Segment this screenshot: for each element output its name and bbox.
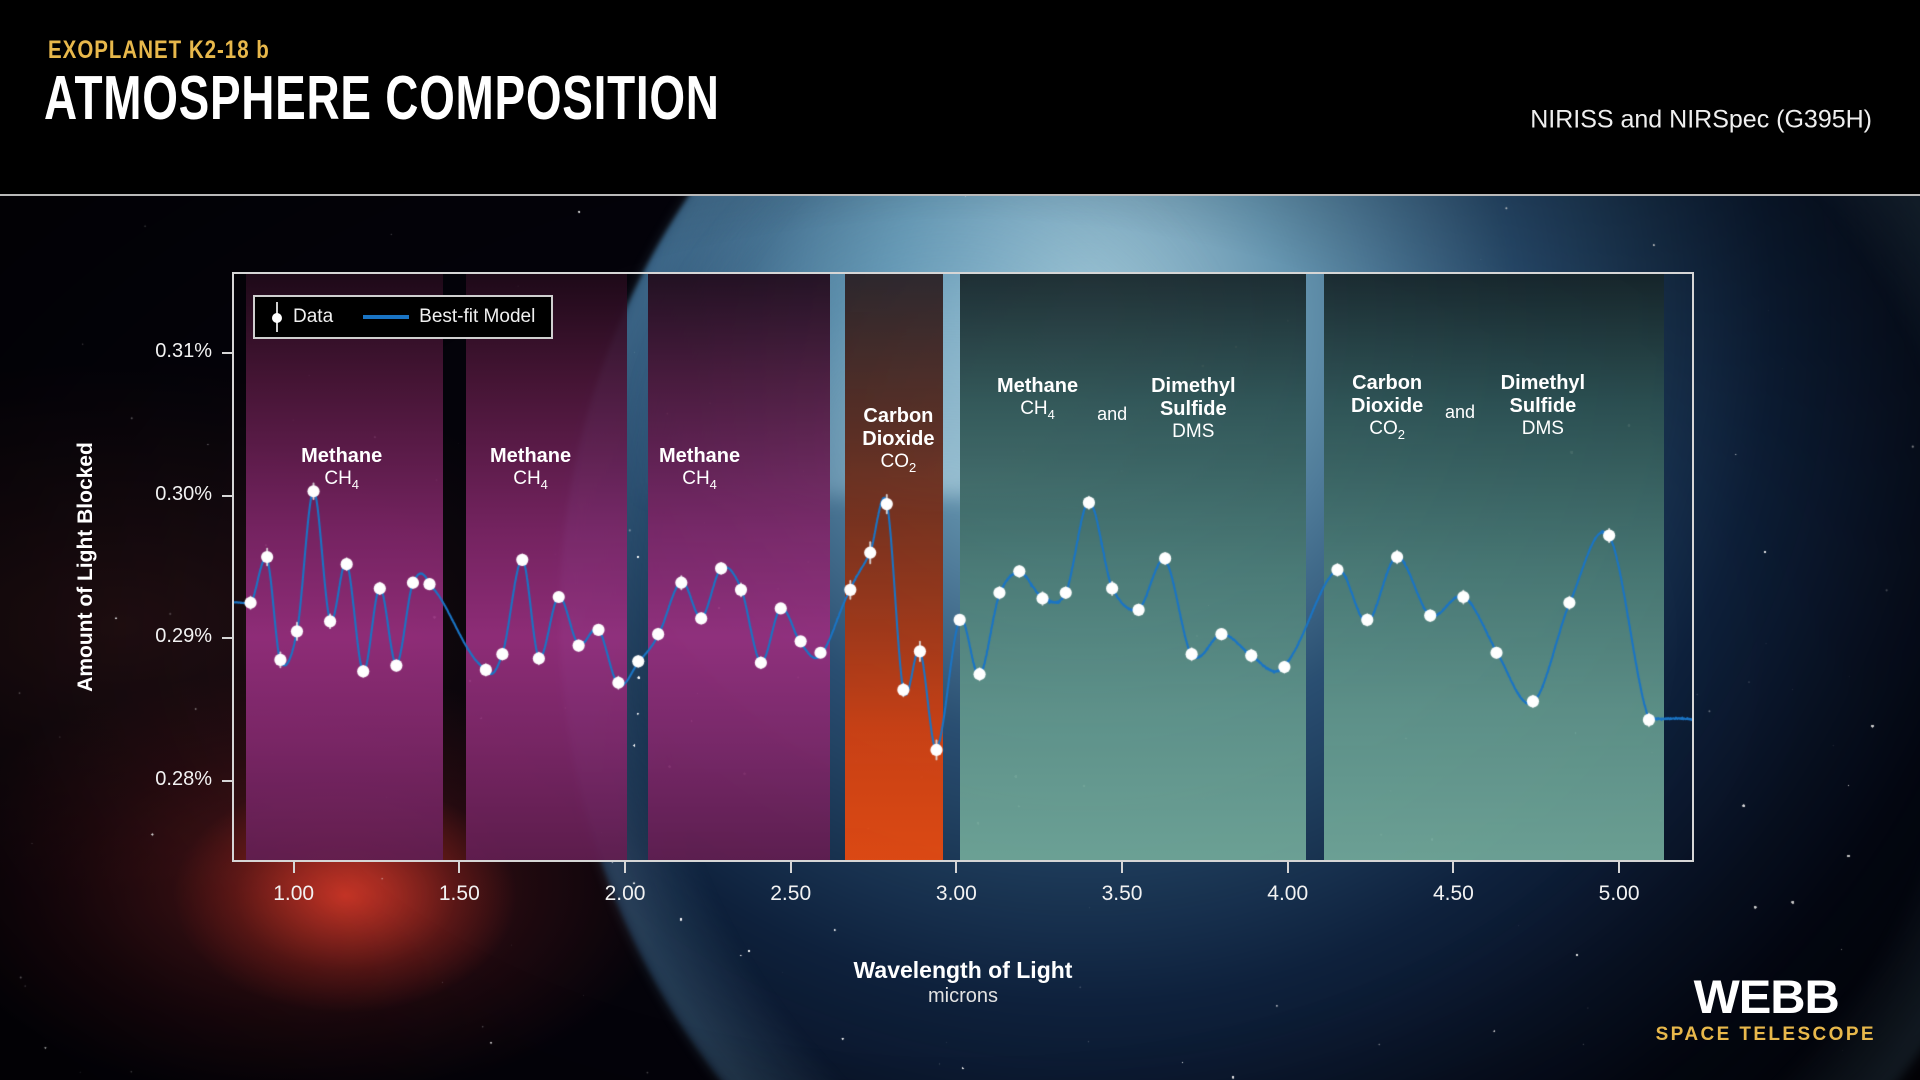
header-divider xyxy=(0,194,1920,196)
x-axis-tick-label: 1.00 xyxy=(234,882,354,906)
annotation-molecule-formula: CO2 xyxy=(862,451,934,476)
x-axis-tick xyxy=(1618,862,1620,873)
annotation-co2-1: CarbonDioxideCO2 xyxy=(862,405,934,475)
x-axis-tick-label: 3.50 xyxy=(1062,882,1182,906)
annotation-molecule-name: Methane xyxy=(997,375,1078,398)
x-axis-tick xyxy=(1452,862,1454,873)
annotation-molecule-name: Sulfide xyxy=(1501,395,1585,418)
legend-label-model: Best-fit Model xyxy=(419,306,535,328)
annotation-ch4-3: MethaneCH4 xyxy=(659,445,740,492)
legend-item-model[interactable]: Best-fit Model xyxy=(363,306,535,328)
annotation-molecule-name: Methane xyxy=(490,445,571,468)
x-axis-tick xyxy=(955,862,957,873)
y-axis-tick-label: 0.30% xyxy=(84,483,212,506)
annotation-molecule-formula: CH4 xyxy=(301,468,382,493)
annotation-dms-2: DimethylSulfideDMS xyxy=(1501,372,1585,439)
instrument-label: NIRISS and NIRSpec (G395H) xyxy=(1530,106,1872,135)
annotation-molecule-name: Sulfide xyxy=(1151,398,1235,421)
eyebrow-exoplanet-name: EXOPLANET K2-18 b xyxy=(48,36,270,65)
y-axis-tick-label: 0.28% xyxy=(84,768,212,791)
y-axis-tick xyxy=(222,495,234,497)
y-axis-tick-label: 0.31% xyxy=(84,340,212,363)
x-axis-tick-label: 3.00 xyxy=(896,882,1016,906)
webb-wordmark: WEBB xyxy=(1651,973,1880,1020)
x-axis-tick xyxy=(1121,862,1123,873)
annotation-molecule-formula: CH4 xyxy=(659,468,740,493)
chart-legend: Data Best-fit Model xyxy=(253,295,553,339)
annotation-ch4-2: MethaneCH4 xyxy=(490,445,571,492)
annotation-ch4-4: MethaneCH4 xyxy=(997,375,1078,422)
annotation-molecule-name: Dimethyl xyxy=(1501,372,1585,395)
x-axis-tick xyxy=(293,862,295,873)
annotation-conjunction: and xyxy=(1445,402,1475,423)
y-axis-tick xyxy=(222,352,234,354)
annotation-molecule-formula: CH4 xyxy=(490,468,571,493)
x-axis-units: microns xyxy=(928,985,998,1008)
y-axis-tick xyxy=(222,637,234,639)
plot-area xyxy=(234,274,1692,860)
annotation-molecule-formula: CH4 xyxy=(997,398,1078,423)
annotation-co2-2: CarbonDioxideCO2 xyxy=(1351,372,1423,442)
page-title: ATMOSPHERE COMPOSITION xyxy=(44,68,720,130)
x-axis-tick xyxy=(790,862,792,873)
data-point-icon xyxy=(271,302,283,332)
y-axis-title: Amount of Light Blocked xyxy=(74,442,98,692)
header-bar: EXOPLANET K2-18 b ATMOSPHERE COMPOSITION… xyxy=(0,0,1920,196)
annotation-ch4-1: MethaneCH4 xyxy=(301,445,382,492)
x-axis-tick-label: 2.00 xyxy=(565,882,685,906)
legend-label-data: Data xyxy=(293,306,333,328)
y-axis-tick-label: 0.29% xyxy=(84,625,212,648)
annotation-molecule-formula: DMS xyxy=(1151,421,1235,443)
x-axis-tick-label: 2.50 xyxy=(731,882,851,906)
x-axis-tick xyxy=(1287,862,1289,873)
annotation-conjunction: and xyxy=(1097,404,1127,425)
annotation-molecule-name: Dioxide xyxy=(1351,395,1423,418)
webb-subtitle: SPACE TELESCOPE xyxy=(1656,1024,1876,1046)
spectrum-canvas xyxy=(234,274,1692,860)
x-axis-title: Wavelength of Light xyxy=(854,957,1073,984)
x-axis-tick-label: 1.50 xyxy=(399,882,519,906)
annotation-dms-1: DimethylSulfideDMS xyxy=(1151,375,1235,442)
x-axis-tick-label: 4.00 xyxy=(1228,882,1348,906)
annotation-molecule-formula: CO2 xyxy=(1351,418,1423,443)
x-axis-tick-label: 4.50 xyxy=(1393,882,1513,906)
infographic-root: EXOPLANET K2-18 b ATMOSPHERE COMPOSITION… xyxy=(0,0,1920,1080)
x-axis-tick xyxy=(458,862,460,873)
annotation-molecule-name: Dimethyl xyxy=(1151,375,1235,398)
annotation-molecule-formula: DMS xyxy=(1501,418,1585,440)
model-line-icon xyxy=(363,315,409,319)
annotation-molecule-name: Methane xyxy=(659,445,740,468)
x-axis-tick xyxy=(624,862,626,873)
legend-item-data[interactable]: Data xyxy=(271,302,333,332)
annotation-molecule-name: Carbon xyxy=(1351,372,1423,395)
webb-logo: WEBB SPACE TELESCOPE xyxy=(1656,973,1876,1046)
annotation-molecule-name: Dioxide xyxy=(862,428,934,451)
annotation-molecule-name: Carbon xyxy=(862,405,934,428)
y-axis-tick xyxy=(222,780,234,782)
annotation-molecule-name: Methane xyxy=(301,445,382,468)
x-axis-tick-label: 5.00 xyxy=(1559,882,1679,906)
